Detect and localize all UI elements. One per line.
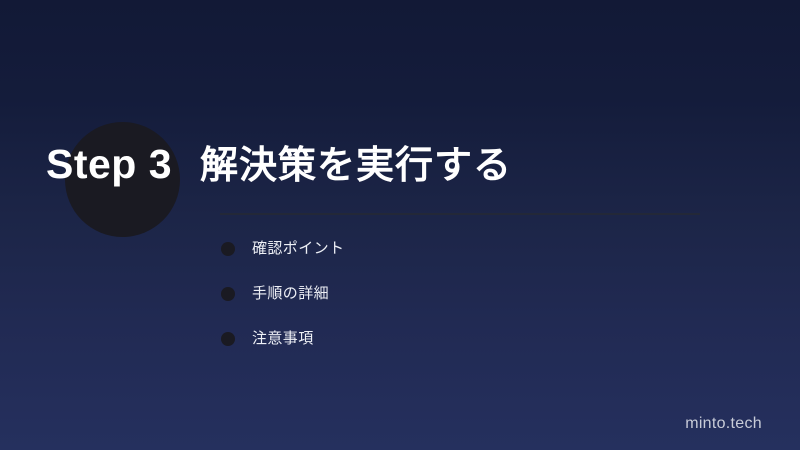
title-divider [220,213,700,215]
bullet-dot-icon [221,242,235,256]
list-item-label: 確認ポイント [252,241,344,257]
list-item: 確認ポイント [221,241,344,286]
page-title: 解決策を実行する [200,147,512,185]
bullet-dot-icon [221,287,235,301]
headline-row: Step 3 解決策を実行する [46,144,512,185]
bullet-list: 確認ポイント 手順の詳細 注意事項 [221,241,344,376]
step-label: Step 3 [46,144,172,185]
list-item: 手順の詳細 [221,286,344,331]
list-item: 注意事項 [221,331,344,376]
list-item-label: 手順の詳細 [252,286,329,302]
footer-brand: minto.tech [685,416,762,432]
presentation-slide: Step 3 解決策を実行する 確認ポイント 手順の詳細 注意事項 minto.… [0,0,800,450]
bullet-dot-icon [221,332,235,346]
list-item-label: 注意事項 [252,331,314,347]
